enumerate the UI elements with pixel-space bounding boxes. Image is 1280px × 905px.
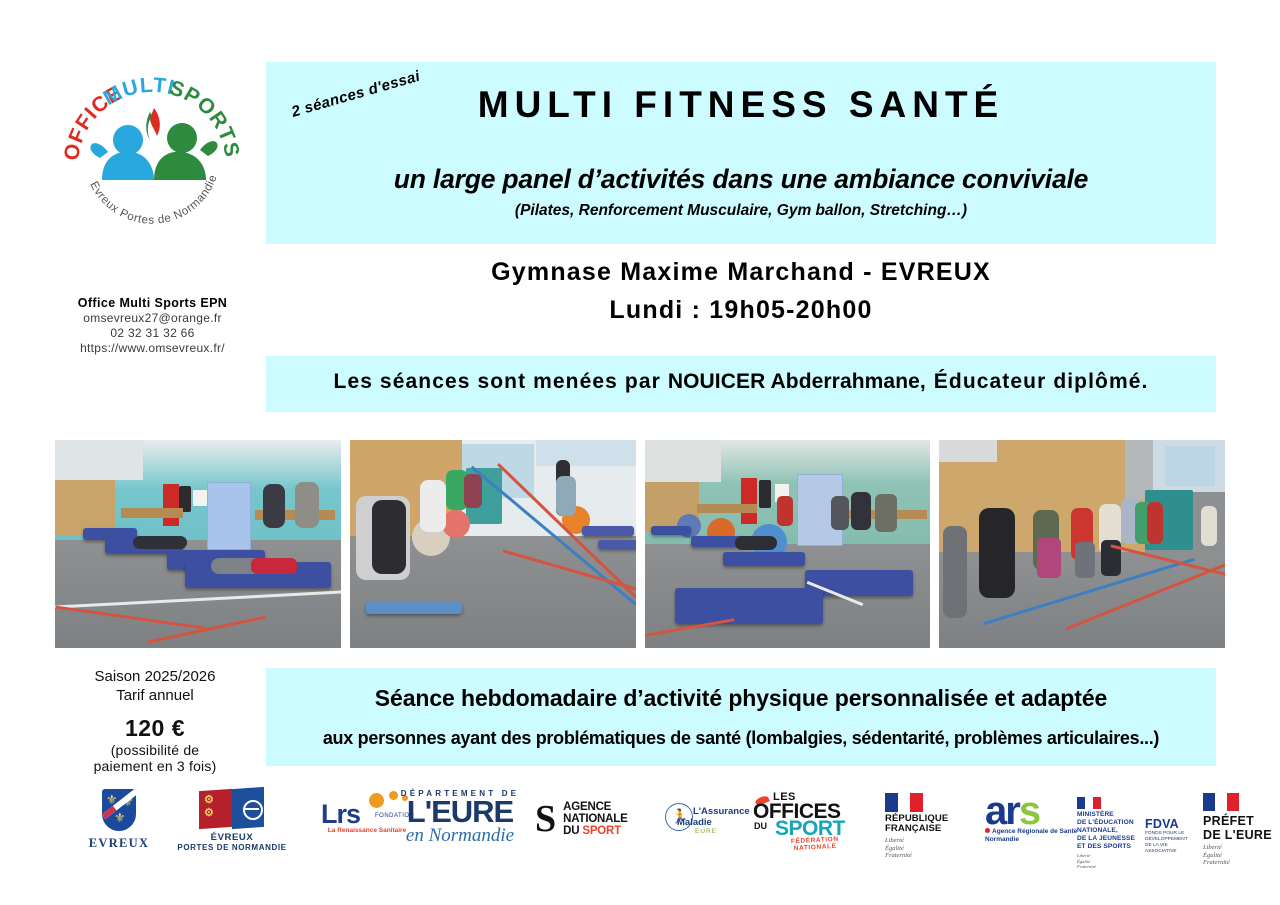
- rf-devise2: Égalité: [885, 845, 904, 852]
- speaker-name: NOUICER Abderrahmane: [668, 370, 920, 393]
- min-devise2: Égalité: [1077, 859, 1090, 864]
- am-line2: Maladie: [677, 817, 712, 828]
- logo-prefet-de-leure: PRÉFET DE L'EURE Liberté Égalité Fratern…: [1203, 793, 1280, 867]
- fdva-sub2: DÉVELOPPEMENT: [1145, 837, 1188, 842]
- rf-line2: FRANÇAISE: [885, 824, 981, 834]
- season-label: Saison 2025/2026: [55, 668, 255, 687]
- oms-logo-icon: OFFICE MULTI SPORTS Evreux Portes de Nor…: [62, 62, 242, 242]
- min-line2: DE L'ÉDUCATION: [1077, 819, 1134, 826]
- prefet-line2: DE L'EURE: [1203, 828, 1280, 842]
- ars-mark-s: s: [1019, 789, 1039, 833]
- svg-text:Evreux Portes de Normandie: Evreux Portes de Normandie: [87, 173, 219, 227]
- subtitle-detail: (Pilates, Renforcement Musculaire, Gym b…: [266, 202, 1216, 220]
- ans-line3a: DU: [563, 825, 582, 837]
- poster-root: OFFICE MULTI SPORTS Evreux Portes de Nor…: [0, 0, 1280, 905]
- speaker-text: Les séances sont menées par NOUICER Abde…: [266, 370, 1216, 394]
- am-line1: L'Assurance: [693, 806, 750, 817]
- schedule-time-line: Lundi : 19h05-20h00: [266, 296, 1216, 325]
- description-panel: Séance hebdomadaire d’activité physique …: [266, 668, 1216, 766]
- organization-email[interactable]: omsevreux27@orange.fr: [55, 311, 250, 326]
- eure-sub: en Normandie: [385, 826, 535, 847]
- logo-fdva: FDVA FONDS POUR LE DÉVELOPPEMENT DE LA V…: [1145, 817, 1207, 855]
- logo-assurance-maladie: 🏃 L'Assurance Maladie EURE: [663, 799, 763, 841]
- logo-evreux-portes-de-normandie: ⚙⚙ ÉVREUX PORTES DE NORMANDIE: [167, 789, 297, 852]
- organization-website[interactable]: https://www.omsevreux.fr/: [55, 341, 250, 356]
- ars-dot-icon: [985, 828, 990, 833]
- min-line4: DE LA JEUNESSE: [1077, 835, 1135, 842]
- organization-phone: 02 32 31 32 66: [55, 326, 250, 341]
- payment-note-line1: (possibilité de: [55, 742, 255, 759]
- epn-flag-icon: ⚙⚙: [199, 789, 265, 829]
- ans-s-icon: S: [535, 804, 556, 834]
- prefet-devise1: Liberté: [1203, 844, 1222, 851]
- logo-republique-francaise: RÉPUBLIQUE FRANÇAISE Liberté Égalité Fra…: [885, 793, 981, 860]
- assurance-maladie-mark: 🏃 L'Assurance Maladie EURE: [663, 799, 759, 841]
- ans-line3b: SPORT: [582, 825, 621, 837]
- logo-les-offices-du-sport: LES OFFICES DU SPORT FÉDÉRATION NATIONAL…: [751, 791, 871, 843]
- min-line1: MINISTÈRE: [1077, 811, 1114, 818]
- lrs-wordmark: Lrs: [321, 799, 360, 830]
- fdva-sub1: FONDS POUR LE: [1145, 831, 1184, 836]
- speaker-panel: Les séances sont menées par NOUICER Abde…: [266, 356, 1216, 412]
- partner-logos-row: ⚜ ⚜ ⚜ EVREUX ⚙⚙ ÉVREUX PORTES DE NORMAND…: [55, 785, 1225, 880]
- min-line3: NATIONALE,: [1077, 827, 1118, 834]
- description-detail: aux personnes ayant des problématiques d…: [266, 728, 1216, 749]
- marianne-flag-icon-ministere: [1077, 797, 1101, 809]
- min-devise3: Fraternité: [1077, 864, 1096, 869]
- ans-line1: AGENCE: [563, 801, 611, 813]
- logo-departement-eure: DÉPARTEMENT DE L'EURE en Normandie: [385, 789, 535, 847]
- marianne-flag-icon: [885, 793, 923, 812]
- eure-wordmark: L'EURE: [385, 798, 535, 826]
- description-headline: Séance hebdomadaire d’activité physique …: [266, 685, 1216, 712]
- ods-du: DU: [754, 821, 767, 831]
- prefet-line1: PRÉFET: [1203, 814, 1280, 828]
- title-panel: MULTI FITNESS SANTÉ un large panel d’act…: [266, 62, 1216, 244]
- photo-mat-exercise: [55, 440, 341, 648]
- pricing-block: Saison 2025/2026 Tarif annuel 120 € (pos…: [55, 668, 255, 775]
- organization-name: Office Multi Sports EPN: [55, 296, 250, 311]
- office-multi-sports-logo: OFFICE MULTI SPORTS Evreux Portes de Nor…: [62, 62, 242, 242]
- speaker-suffix: , Éducateur diplômé.: [920, 370, 1149, 393]
- epn-line1: ÉVREUX: [167, 832, 297, 843]
- rf-devise1: Liberté: [885, 837, 904, 844]
- svg-text:MULTI: MULTI: [100, 74, 178, 110]
- ans-line2: NATIONALE: [563, 813, 627, 825]
- photo-strip: [55, 440, 1225, 648]
- offices-du-sport-mark: LES OFFICES DU SPORT FÉDÉRATION NATIONAL…: [751, 791, 861, 843]
- fdva-wordmark: FDVA: [1145, 817, 1207, 831]
- prefet-devise2: Égalité: [1203, 852, 1222, 859]
- am-line3: EURE: [695, 828, 717, 835]
- page-title: MULTI FITNESS SANTÉ: [266, 84, 1216, 126]
- photo-gym-ball: [350, 440, 636, 648]
- ars-caption2: Normandie: [985, 836, 1019, 843]
- epn-line2: PORTES DE NORMANDIE: [167, 843, 297, 852]
- prefet-devise3: Fraternité: [1203, 859, 1230, 866]
- logo-ministere-education-nationale: MINISTÈRE DE L'ÉDUCATION NATIONALE, DE L…: [1077, 797, 1147, 869]
- logo-evreux: ⚜ ⚜ ⚜ EVREUX: [73, 789, 165, 851]
- rf-devise3: Fraternité: [885, 852, 912, 859]
- ans-wordmark: AGENCE NATIONALE DU SPORT: [563, 801, 627, 838]
- tariff-label: Tarif annuel: [55, 687, 255, 706]
- photo-ball-plank: [645, 440, 931, 648]
- ars-caption1: Agence Régionale de Santé: [992, 828, 1077, 835]
- ars-mark-a: ar: [985, 789, 1019, 833]
- photo-wall-stretch: [939, 440, 1225, 648]
- evreux-shield-icon: ⚜ ⚜ ⚜: [102, 789, 136, 831]
- min-line5: ET DES SPORTS: [1077, 843, 1131, 850]
- payment-note-line2: paiement en 3 fois): [55, 758, 255, 775]
- price-amount: 120 €: [55, 715, 255, 742]
- speaker-prefix: Les séances sont menées par: [334, 370, 661, 393]
- subtitle: un large panel d’activités dans une ambi…: [266, 164, 1216, 195]
- fdva-sub3: DE LA VIE: [1145, 843, 1168, 848]
- fdva-sub4: ASSOCIATIVE: [1145, 849, 1177, 854]
- min-devise1: Liberté: [1077, 853, 1090, 858]
- contact-block: Office Multi Sports EPN omsevreux27@oran…: [55, 296, 250, 355]
- marianne-flag-icon-prefet: [1203, 793, 1239, 811]
- evreux-caption: EVREUX: [73, 836, 165, 851]
- venue-line: Gymnase Maxime Marchand - EVREUX: [266, 258, 1216, 287]
